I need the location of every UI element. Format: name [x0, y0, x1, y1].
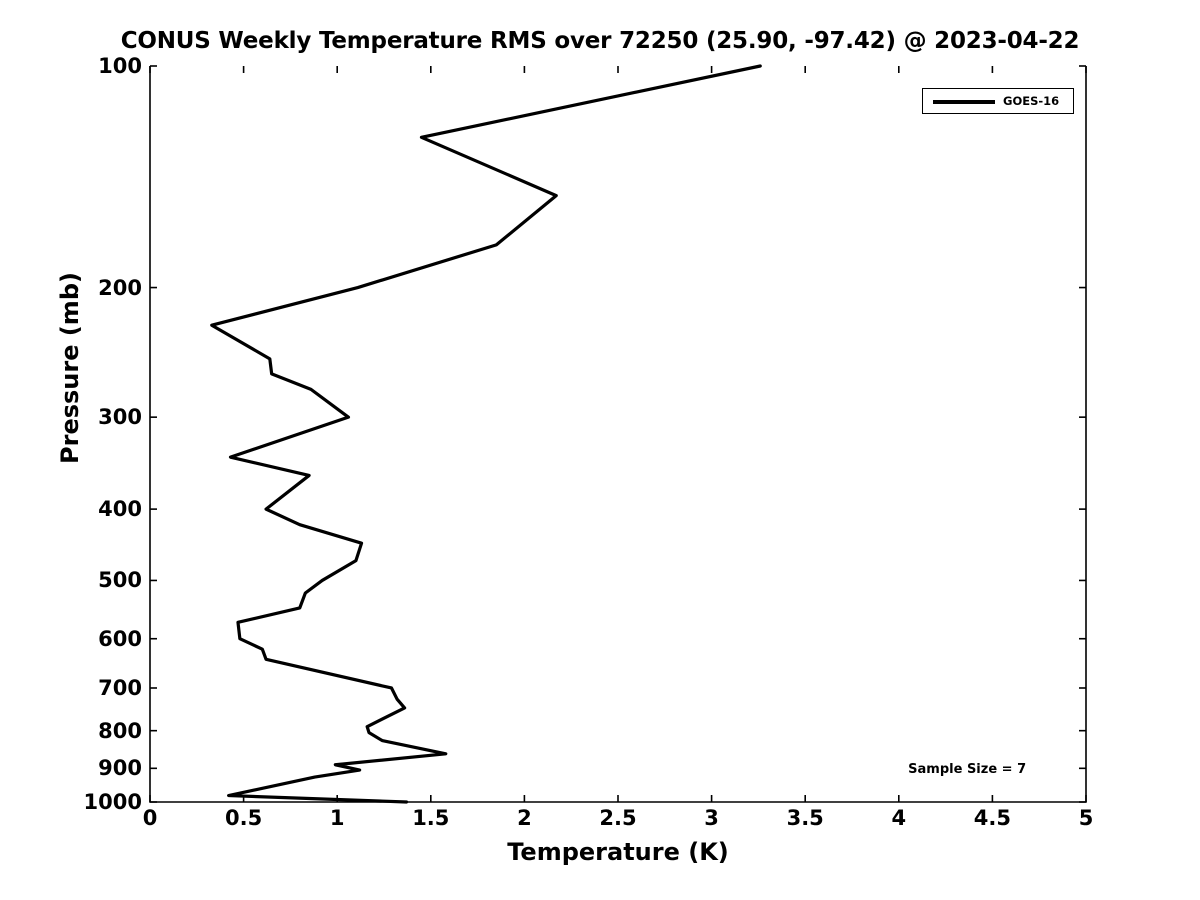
data-series-group [212, 66, 760, 802]
legend-label-goes-16: GOES-16 [1003, 94, 1059, 108]
axes-frame [150, 66, 1086, 802]
data-line-goes-16 [212, 66, 760, 802]
axis-ticks [150, 66, 1086, 802]
sample-size-annotation: Sample Size = 7 [908, 762, 1026, 777]
legend-line-swatch [933, 100, 995, 104]
axes-spines [150, 66, 1086, 802]
legend: GOES-16 [922, 88, 1074, 114]
figure-container: CONUS Weekly Temperature RMS over 72250 … [0, 0, 1200, 900]
